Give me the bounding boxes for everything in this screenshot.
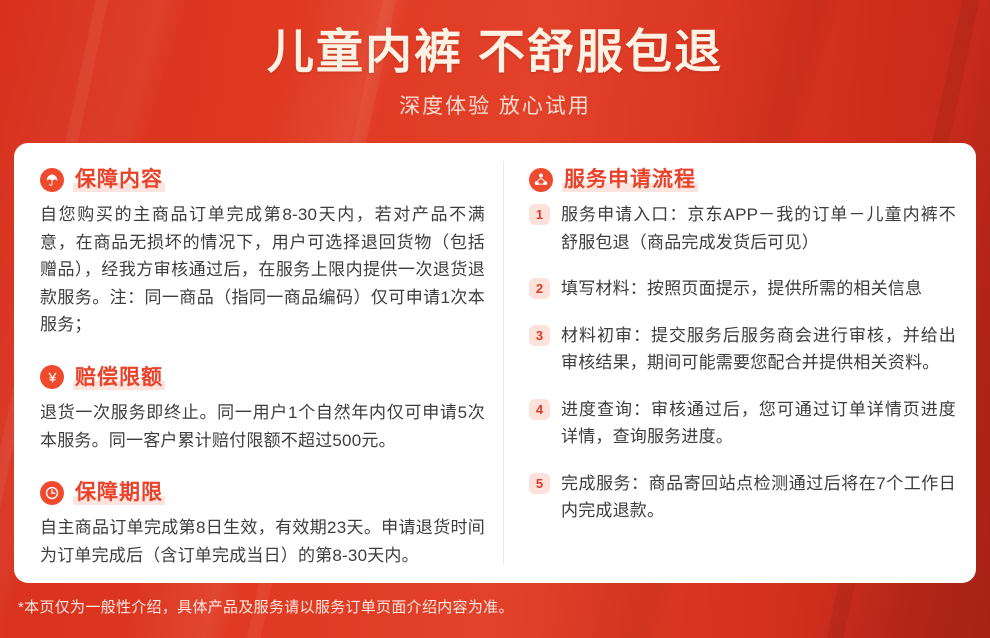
list-item: 4 进度查询：审核通过后，您可通过订单详情页进度详情，查询服务进度。 <box>529 396 956 451</box>
step-text: 进度查询：审核通过后，您可通过订单详情页进度详情，查询服务进度。 <box>561 396 956 451</box>
section-guarantee-content: 保障内容 自您购买的主商品订单完成第8-30天内，若对产品不满意，在商品无损坏的… <box>40 167 485 339</box>
step-number-badge: 5 <box>529 473 550 494</box>
section-title: 保障内容 <box>73 167 165 192</box>
process-panel: 服务申请流程 1 服务申请入口：京东APP－我的订单－儿童内裤不舒服包退（商品完… <box>503 143 976 583</box>
section-title: 赔偿限额 <box>73 365 165 390</box>
clock-icon <box>40 481 64 505</box>
page-subtitle: 深度体验 放心试用 <box>0 90 990 120</box>
section-body: 自您购买的主商品订单完成第8-30天内，若对产品不满意，在商品无损坏的情况下，用… <box>40 201 485 339</box>
section-body: 自主商品订单完成第8日生效，有效期23天。申请退货时间为订单完成后（含订单完成当… <box>40 514 485 569</box>
process-network-icon <box>529 168 553 192</box>
step-text: 服务申请入口：京东APP－我的订单－儿童内裤不舒服包退（商品完成发货后可见） <box>561 201 956 256</box>
list-item: 1 服务申请入口：京东APP－我的订单－儿童内裤不舒服包退（商品完成发货后可见） <box>529 201 956 256</box>
page-title: 儿童内裤 不舒服包退 <box>0 24 990 79</box>
list-item: 3 材料初审：提交服务后服务商会进行审核，并给出审核结果，期间可能需要您配合并提… <box>529 322 956 377</box>
list-item: 5 完成服务：商品寄回站点检测通过后将在7个工作日内完成退款。 <box>529 470 956 525</box>
guarantee-panel: 保障内容 自您购买的主商品订单完成第8-30天内，若对产品不满意，在商品无损坏的… <box>14 143 503 583</box>
step-text: 填写材料：按照页面提示，提供所需的相关信息 <box>561 275 922 303</box>
section-heading: 保障内容 <box>40 167 485 192</box>
section-heading: 赔偿限额 <box>40 365 485 390</box>
section-body: 退货一次服务即终止。同一用户1个自然年内仅可申请5次本服务。同一客户累计赔付限额… <box>40 399 485 454</box>
step-number-badge: 4 <box>529 399 550 420</box>
section-heading: 保障期限 <box>40 480 485 505</box>
section-title: 保障期限 <box>73 480 165 505</box>
section-heading: 服务申请流程 <box>529 167 956 192</box>
section-guarantee-period: 保障期限 自主商品订单完成第8日生效，有效期23天。申请退货时间为订单完成后（含… <box>40 480 485 569</box>
footer-disclaimer: *本页仅为一般性介绍，具体产品及服务请以服务订单页面介绍内容为准。 <box>0 596 990 617</box>
step-number-badge: 3 <box>529 325 550 346</box>
step-text: 材料初审：提交服务后服务商会进行审核，并给出审核结果，期间可能需要您配合并提供相… <box>561 322 956 377</box>
step-number-badge: 2 <box>529 278 550 299</box>
page-header: 儿童内裤 不舒服包退 深度体验 放心试用 <box>0 0 990 143</box>
list-item: 2 填写材料：按照页面提示，提供所需的相关信息 <box>529 275 956 303</box>
step-text: 完成服务：商品寄回站点检测通过后将在7个工作日内完成退款。 <box>561 470 956 525</box>
yen-icon <box>40 365 64 389</box>
section-title: 服务申请流程 <box>562 167 698 192</box>
content-card: 保障内容 自您购买的主商品订单完成第8-30天内，若对产品不满意，在商品无损坏的… <box>14 143 976 583</box>
step-number-badge: 1 <box>529 204 550 225</box>
umbrella-icon <box>40 168 64 192</box>
section-compensation-limit: 赔偿限额 退货一次服务即终止。同一用户1个自然年内仅可申请5次本服务。同一客户累… <box>40 365 485 454</box>
process-steps-list: 1 服务申请入口：京东APP－我的订单－儿童内裤不舒服包退（商品完成发货后可见）… <box>529 201 956 525</box>
